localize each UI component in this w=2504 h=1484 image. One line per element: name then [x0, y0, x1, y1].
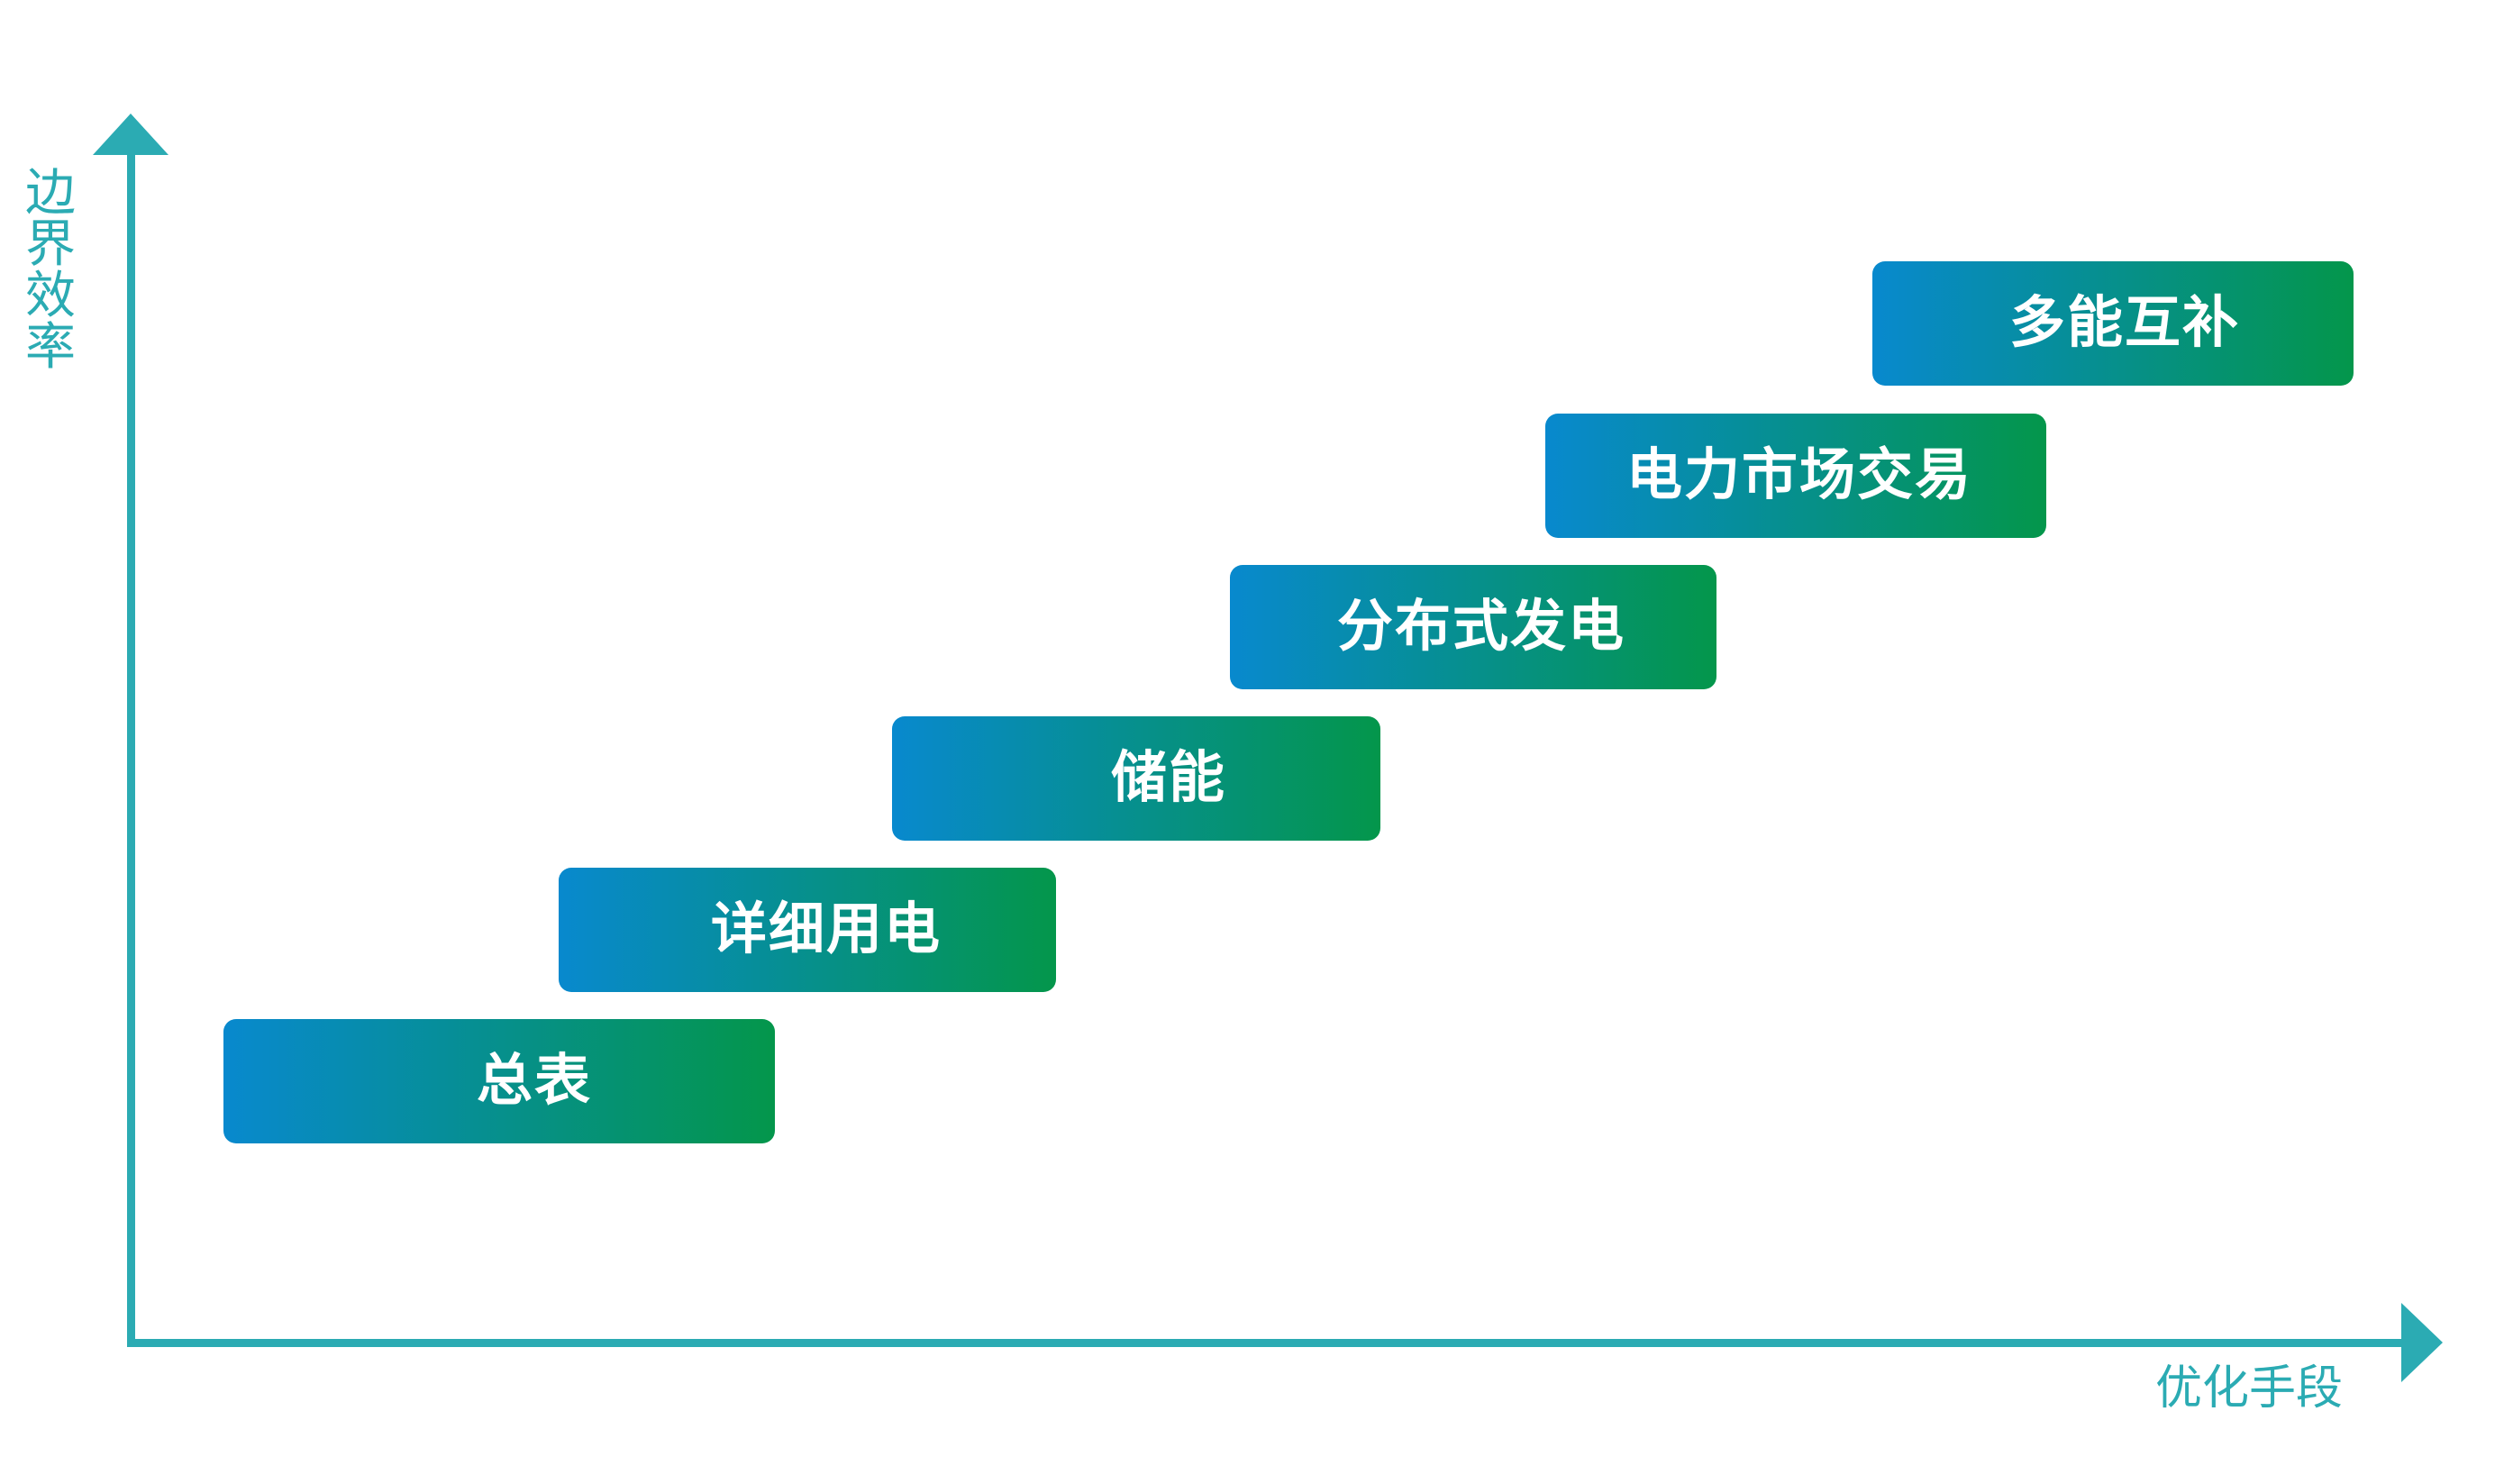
y-axis-line — [127, 151, 135, 1346]
x-axis-arrow-right-icon — [2401, 1303, 2443, 1382]
step-bar-4[interactable]: 分布式发电 — [1230, 565, 1716, 689]
step-bar-2[interactable]: 详细用电 — [559, 868, 1056, 992]
step-bar-label: 总表 — [223, 1053, 775, 1109]
step-bar-label: 多能互补 — [1872, 296, 2354, 351]
x-axis-title: 优化手段 — [2155, 1365, 2343, 1412]
x-axis-line — [127, 1339, 2407, 1347]
step-bar-3[interactable]: 储能 — [892, 716, 1380, 841]
step-bar-5[interactable]: 电力市场交易 — [1545, 414, 2046, 538]
staircase-diagram-canvas: 边界效率 优化手段 总表 详细用电 储能 分布式发电 电力市场交易 多能互补 — [0, 0, 2504, 1484]
step-bar-6[interactable]: 多能互补 — [1872, 261, 2354, 386]
step-bar-label: 分布式发电 — [1230, 599, 1716, 655]
step-bar-label: 电力市场交易 — [1545, 448, 2046, 504]
y-axis-arrow-up-icon — [93, 114, 168, 155]
step-bar-label: 储能 — [892, 751, 1380, 806]
step-bar-label: 详细用电 — [559, 902, 1056, 958]
y-axis-title: 边界效率 — [18, 167, 83, 372]
step-bar-1[interactable]: 总表 — [223, 1019, 775, 1143]
